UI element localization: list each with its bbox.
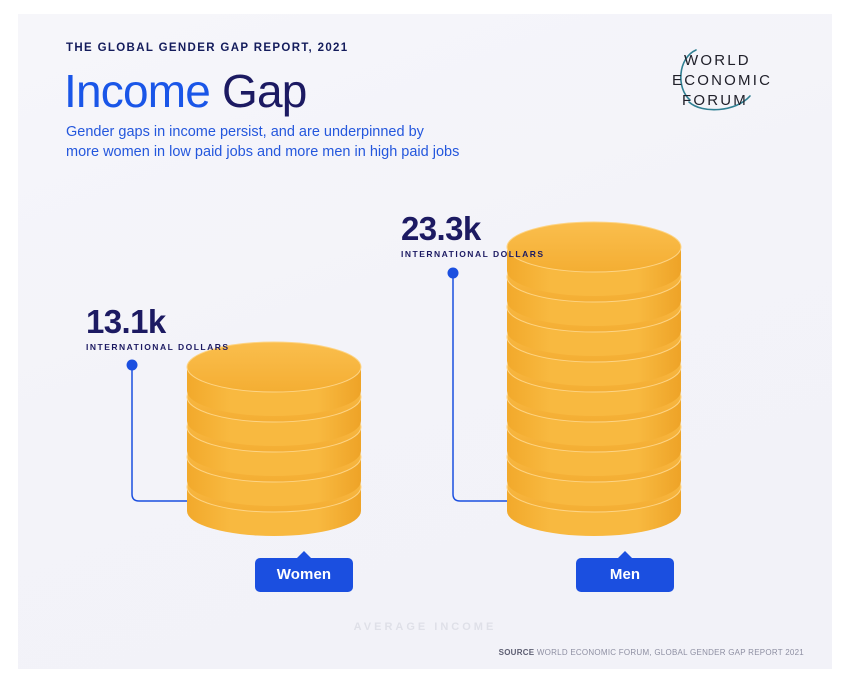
callout-women: 13.1k INTERNATIONAL DOLLARS xyxy=(86,304,230,354)
leader-dot-women xyxy=(127,360,138,371)
source-note: SOURCE WORLD ECONOMIC FORUM, GLOBAL GEND… xyxy=(499,648,804,657)
coin-stack-men xyxy=(507,222,681,536)
callout-women-unit: INTERNATIONAL DOLLARS xyxy=(86,340,230,354)
source-label: SOURCE xyxy=(499,648,535,657)
leader-dot-men xyxy=(448,268,459,279)
callout-men-unit: INTERNATIONAL DOLLARS xyxy=(401,247,545,261)
callout-men-value: 23.3k xyxy=(401,211,545,247)
infographic-root: THE GLOBAL GENDER GAP REPORT, 2021 Incom… xyxy=(0,0,850,690)
callout-women-value: 13.1k xyxy=(86,304,230,340)
category-badge-women[interactable]: Women xyxy=(255,558,353,592)
callout-men: 23.3k INTERNATIONAL DOLLARS xyxy=(401,211,545,261)
infographic-canvas: THE GLOBAL GENDER GAP REPORT, 2021 Incom… xyxy=(18,14,832,669)
category-badge-men[interactable]: Men xyxy=(576,558,674,592)
coin-stack-women xyxy=(187,342,361,536)
axis-caption: AVERAGE INCOME xyxy=(18,621,832,633)
source-text: WORLD ECONOMIC FORUM, GLOBAL GENDER GAP … xyxy=(534,648,804,657)
